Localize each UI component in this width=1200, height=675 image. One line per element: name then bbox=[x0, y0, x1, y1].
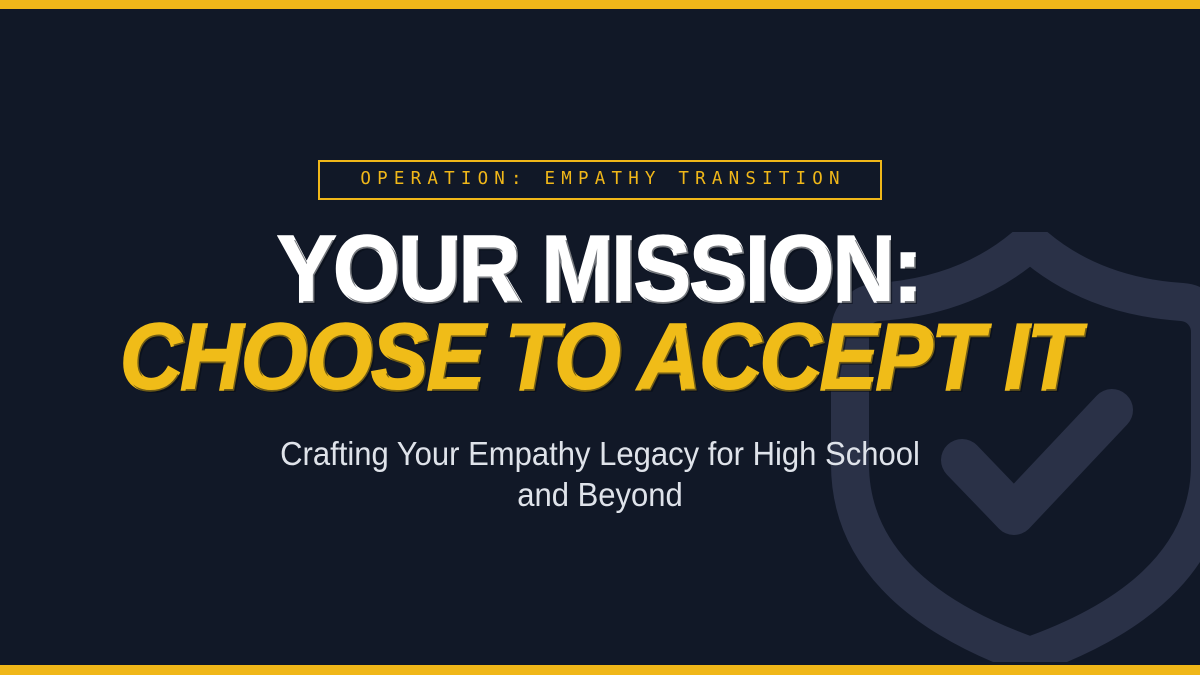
headline-secondary: CHOOSE TO ACCEPT IT bbox=[121, 314, 1079, 400]
slide-subtitle: Crafting Your Empathy Legacy for High Sc… bbox=[262, 433, 939, 516]
slide-canvas: OPERATION: EMPATHY TRANSITION YOUR MISSI… bbox=[0, 0, 1200, 675]
operation-badge-label: OPERATION: EMPATHY TRANSITION bbox=[354, 171, 846, 189]
headline-primary: YOUR MISSION: bbox=[121, 226, 1079, 312]
operation-badge: OPERATION: EMPATHY TRANSITION bbox=[318, 160, 882, 200]
bottom-accent-bar bbox=[0, 665, 1200, 675]
top-accent-bar bbox=[0, 0, 1200, 9]
slide-content: OPERATION: EMPATHY TRANSITION YOUR MISSI… bbox=[0, 0, 1200, 675]
headline-block: YOUR MISSION: CHOOSE TO ACCEPT IT bbox=[79, 226, 1120, 401]
